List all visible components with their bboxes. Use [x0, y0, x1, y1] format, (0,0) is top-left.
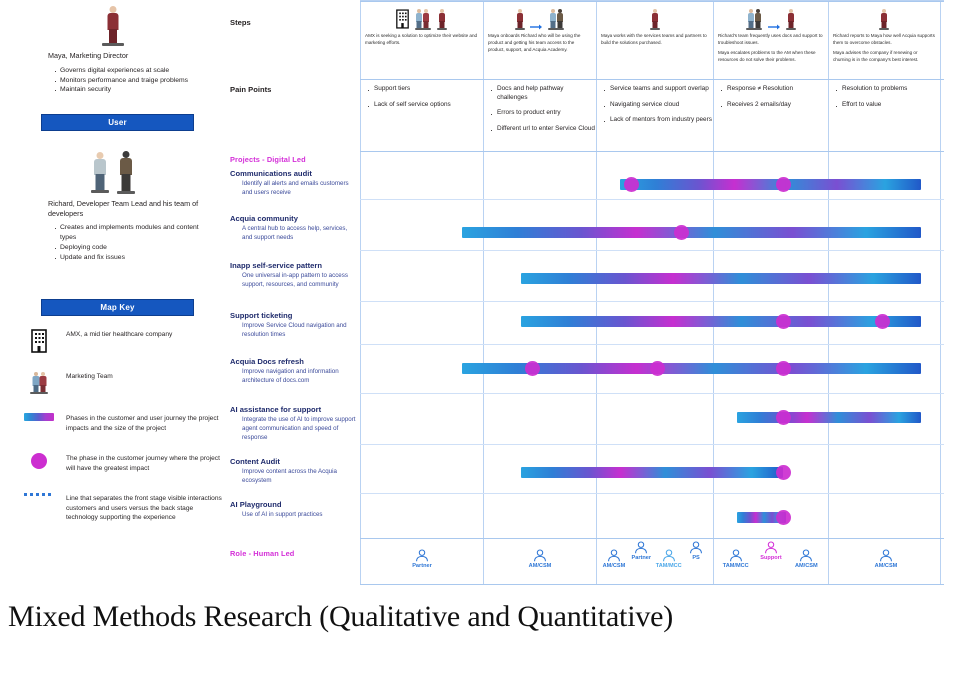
list-item: Monitors performance and traige problems: [54, 76, 216, 86]
role-icon-support[interactable]: Support: [755, 541, 787, 561]
person-outline-icon: [662, 549, 676, 563]
step-text: Richard reports to Maya how well Acquia …: [833, 33, 935, 47]
list-item: Receives 2 emails/day: [720, 101, 827, 110]
pain-points-list: Service teams and support overlap Naviga…: [603, 85, 712, 125]
persona-richard-name: Richard, Developer Team Lead and his tea…: [10, 199, 216, 218]
person-figure-icon: [437, 7, 448, 31]
role-icon-am-csm[interactable]: AM/CSM: [524, 549, 556, 569]
pain-points-cell-4: Response ≠ Resolution Receives 2 emails/…: [714, 85, 827, 116]
project-phase-bar[interactable]: [462, 227, 920, 238]
persona-maya-bullets: Governs digital experiences at scale Mon…: [10, 66, 216, 96]
step-cell-2: Maya onboards Richard who will be using …: [484, 3, 595, 57]
pain-points-cell-5: Resolution to problems Effort to value: [829, 85, 939, 116]
dashed-line-swatch-icon: [22, 491, 56, 496]
map-key-label: Marketing Team: [66, 369, 113, 382]
journey-matrix: AMX is seeking a solution to optimize th…: [360, 0, 944, 585]
map-key-label: AMX, a mid tier healthcare company: [66, 327, 172, 340]
person-outline-icon: [764, 541, 778, 555]
step-illustration: [601, 5, 708, 31]
row-label-pain-points: Pain Points: [230, 85, 271, 94]
map-key-list: AMX, a mid tier healthcare company Marke…: [22, 327, 222, 539]
person-figure-icon: [115, 150, 137, 196]
list-item: Service teams and support overlap: [603, 85, 712, 94]
project-item-acquia-community[interactable]: Acquia community A central hub to access…: [230, 214, 358, 243]
project-item-support-ticketing[interactable]: Support ticketing Improve Service Cloud …: [230, 311, 358, 340]
greatest-impact-dot[interactable]: [674, 225, 689, 240]
role-icon-partner[interactable]: Partner: [406, 549, 438, 569]
step-text: Maya works with the services teams and p…: [601, 33, 708, 47]
person-outline-icon: [689, 541, 703, 555]
magenta-dot-swatch-icon: [22, 451, 56, 469]
step-text: AMX is seeking a solution to optimize th…: [365, 33, 478, 47]
pain-points-list: Resolution to problems Effort to value: [835, 85, 939, 109]
step-description: Richard reports to Maya how well Acquia …: [833, 33, 935, 64]
project-title: AI assistance for support: [230, 405, 358, 414]
step-illustration: [833, 5, 935, 31]
greatest-impact-dot[interactable]: [776, 465, 791, 480]
project-item-inapp-self-service[interactable]: Inapp self-service pattern One universal…: [230, 261, 358, 290]
marketing-team-icon: [22, 369, 56, 395]
persona-column: Maya, Marketing Director Governs digital…: [0, 0, 226, 585]
project-item-ai-assistance[interactable]: AI assistance for support Integrate the …: [230, 405, 358, 442]
person-figure-icon: [89, 150, 111, 196]
persona-maya: Maya, Marketing Director Governs digital…: [10, 0, 216, 95]
list-item: Navigating service cloud: [603, 101, 712, 110]
project-title: Inapp self-service pattern: [230, 261, 358, 270]
list-item: Governs digital experiences at scale: [54, 66, 216, 76]
role-icon-am-csm[interactable]: AM/CSM: [790, 549, 822, 569]
user-band-label: User: [108, 118, 127, 127]
arrow-right-icon: [768, 23, 780, 31]
user-band: User: [41, 114, 194, 131]
person-outline-icon: [415, 549, 429, 563]
role-icon-tam-mcc[interactable]: TAM/MCC: [720, 549, 752, 569]
project-item-content-audit[interactable]: Content Audit Improve content across the…: [230, 457, 358, 486]
row-divider: [360, 538, 944, 539]
list-item: Support tiers: [367, 85, 482, 94]
role-label: PS: [692, 555, 699, 561]
persona-maya-name: Maya, Marketing Director: [10, 51, 216, 61]
row-divider: [360, 584, 944, 585]
step-text: Maya advises the company if renewing or …: [833, 50, 935, 64]
step-description: Richard's team frequently uses docs and …: [718, 33, 823, 64]
slide-caption: Mixed Methods Research (Qualitative and …: [8, 600, 952, 634]
list-item: Different url to enter Service Cloud: [490, 125, 595, 134]
person-figure-icon: [514, 7, 525, 31]
row-divider: [360, 301, 944, 302]
project-phase-bar[interactable]: [521, 467, 784, 478]
role-label: Partner: [632, 555, 652, 561]
step-text: Richard's team frequently uses docs and …: [718, 33, 823, 47]
greatest-impact-dot[interactable]: [776, 361, 791, 376]
project-title: Content Audit: [230, 457, 358, 466]
row-divider: [360, 79, 944, 80]
person-outline-icon: [729, 549, 743, 563]
list-item: Response ≠ Resolution: [720, 85, 827, 94]
project-desc: Improve content across the Acquia ecosys…: [230, 468, 358, 486]
project-desc: One universal in-app pattern to access s…: [230, 272, 358, 290]
team-figure-icon: [547, 7, 565, 31]
project-title: AI Playground: [230, 500, 358, 509]
row-divider: [360, 493, 944, 494]
building-icon-svg: [31, 329, 47, 353]
project-phase-bar[interactable]: [521, 316, 921, 327]
greatest-impact-dot[interactable]: [525, 361, 540, 376]
role-label: Partner: [412, 563, 432, 569]
step-description: AMX is seeking a solution to optimize th…: [365, 33, 478, 47]
pain-points-list: Support tiers Lack of self service optio…: [367, 85, 482, 109]
list-item: Update and fix issues: [54, 253, 216, 263]
project-item-communications-audit[interactable]: Communications audit Identify all alerts…: [230, 169, 358, 198]
map-key-row-marketing-team: Marketing Team: [22, 369, 222, 395]
person-figure-icon: [879, 7, 890, 31]
role-label: Support: [760, 555, 781, 561]
list-item: Docs and help pathway challenges: [490, 85, 595, 102]
list-item: Deploying code: [54, 243, 216, 253]
project-desc: Integrate the use of AI to improve suppo…: [230, 416, 358, 442]
step-illustration: [718, 5, 823, 31]
person-outline-icon: [533, 549, 547, 563]
map-key-label: Phases in the customer and user journey …: [66, 411, 222, 433]
map-key-row-impact-dot: The phase in the customer journey where …: [22, 451, 222, 475]
step-description: Maya onboards Richard who will be using …: [488, 33, 591, 54]
building-icon: [22, 327, 56, 353]
row-divider: [360, 199, 944, 200]
row-divider: [360, 1, 944, 2]
step-cell-5: Richard reports to Maya how well Acquia …: [829, 3, 939, 67]
row-label-role: Role - Human Led: [230, 549, 294, 558]
project-desc: Use of AI in support practices: [230, 511, 358, 520]
role-label: AM/CSM: [795, 563, 818, 569]
team-figure-icon: [745, 7, 763, 31]
pain-points-cell-2: Docs and help pathway challenges Errors …: [484, 85, 595, 141]
map-key-row-dashed-line: Line that separates the front stage visi…: [22, 491, 222, 523]
project-desc: Improve Service Cloud navigation and res…: [230, 322, 358, 340]
role-label: AM/CSM: [529, 563, 552, 569]
greatest-impact-dot[interactable]: [776, 410, 791, 425]
projects-header: Projects - Digital Led: [230, 155, 306, 164]
row-divider: [360, 151, 944, 152]
person-figure-icon: [649, 7, 660, 31]
gradient-bar-swatch-icon: [22, 411, 56, 421]
list-item: Errors to product entry: [490, 109, 595, 118]
persona-richard-bullets: Creates and implements modules and conte…: [10, 223, 216, 262]
person-outline-icon: [607, 549, 621, 563]
map-key-row-company: AMX, a mid tier healthcare company: [22, 327, 222, 353]
project-phase-bar[interactable]: [737, 412, 921, 423]
person-outline-icon: [879, 549, 893, 563]
role-label: AM/CSM: [875, 563, 898, 569]
greatest-impact-dot[interactable]: [776, 314, 791, 329]
list-item: Creates and implements modules and conte…: [54, 223, 216, 243]
role-label: TAM/MCC: [723, 563, 749, 569]
projects-column: Steps Pain Points Projects - Digital Led…: [228, 0, 360, 585]
pain-points-cell-3: Service teams and support overlap Naviga…: [597, 85, 712, 132]
building-icon: [396, 7, 409, 31]
project-item-acquia-docs-refresh[interactable]: Acquia Docs refresh Improve navigation a…: [230, 357, 358, 386]
project-phase-bar[interactable]: [521, 273, 921, 284]
arrow-right-icon: [530, 23, 542, 31]
project-title: Acquia Docs refresh: [230, 357, 358, 366]
step-illustration: [365, 5, 478, 31]
project-title: Support ticketing: [230, 311, 358, 320]
map-key-band-label: Map Key: [100, 303, 134, 312]
persona-maya-illustration: [10, 0, 216, 48]
journey-map-slide: Maya, Marketing Director Governs digital…: [0, 0, 960, 679]
list-item: Effort to value: [835, 101, 939, 110]
step-text: Maya escalates problems to the AM when t…: [718, 50, 823, 64]
step-text: Maya onboards Richard who will be using …: [488, 33, 591, 54]
row-divider: [360, 344, 944, 345]
project-desc: Improve navigation and information archi…: [230, 368, 358, 386]
row-divider: [360, 393, 944, 394]
role-label: TAM/MCC: [656, 563, 682, 569]
project-phase-bar[interactable]: [620, 179, 921, 190]
pain-points-list: Docs and help pathway challenges Errors …: [490, 85, 595, 134]
step-cell-1: AMX is seeking a solution to optimize th…: [361, 3, 482, 50]
person-figure-icon: [785, 7, 796, 31]
step-illustration: [488, 5, 591, 31]
project-desc: Identify all alerts and emails customers…: [230, 180, 358, 198]
map-key-row-phase-bar: Phases in the customer and user journey …: [22, 411, 222, 435]
row-divider: [360, 250, 944, 251]
map-key-label: Line that separates the front stage visi…: [66, 491, 222, 523]
pain-points-cell-1: Support tiers Lack of self service optio…: [361, 85, 482, 116]
person-outline-icon: [799, 549, 813, 563]
row-divider: [360, 444, 944, 445]
person-figure-icon: [100, 4, 126, 48]
list-item: Lack of self service options: [367, 101, 482, 110]
project-title: Acquia community: [230, 214, 358, 223]
role-label: AM/CSM: [603, 563, 626, 569]
project-desc: A central hub to access help, services, …: [230, 225, 358, 243]
row-label-steps: Steps: [230, 18, 251, 27]
step-description: Maya works with the services teams and p…: [601, 33, 708, 47]
persona-richard: Richard, Developer Team Lead and his tea…: [10, 148, 216, 263]
list-item: Resolution to problems: [835, 85, 939, 94]
person-outline-icon: [634, 541, 648, 555]
pain-points-list: Response ≠ Resolution Receives 2 emails/…: [720, 85, 827, 109]
step-cell-4: Richard's team frequently uses docs and …: [714, 3, 827, 67]
greatest-impact-dot[interactable]: [776, 510, 791, 525]
persona-richard-illustration: [10, 148, 216, 196]
role-icon-am-csm[interactable]: AM/CSM: [870, 549, 902, 569]
list-item: Maintain security: [54, 85, 216, 95]
team-figure-icon: [414, 7, 432, 31]
list-item: Lack of mentors from industry peers: [603, 116, 712, 125]
greatest-impact-dot[interactable]: [776, 177, 791, 192]
greatest-impact-dot[interactable]: [624, 177, 639, 192]
role-icon-ps[interactable]: PS: [680, 541, 712, 561]
project-title: Communications audit: [230, 169, 358, 178]
map-key-band: Map Key: [41, 299, 194, 316]
column-divider: [940, 1, 941, 584]
step-cell-3: Maya works with the services teams and p…: [597, 3, 712, 50]
project-item-ai-playground[interactable]: AI Playground Use of AI in support pract…: [230, 500, 358, 520]
map-key-label: The phase in the customer journey where …: [66, 451, 222, 473]
